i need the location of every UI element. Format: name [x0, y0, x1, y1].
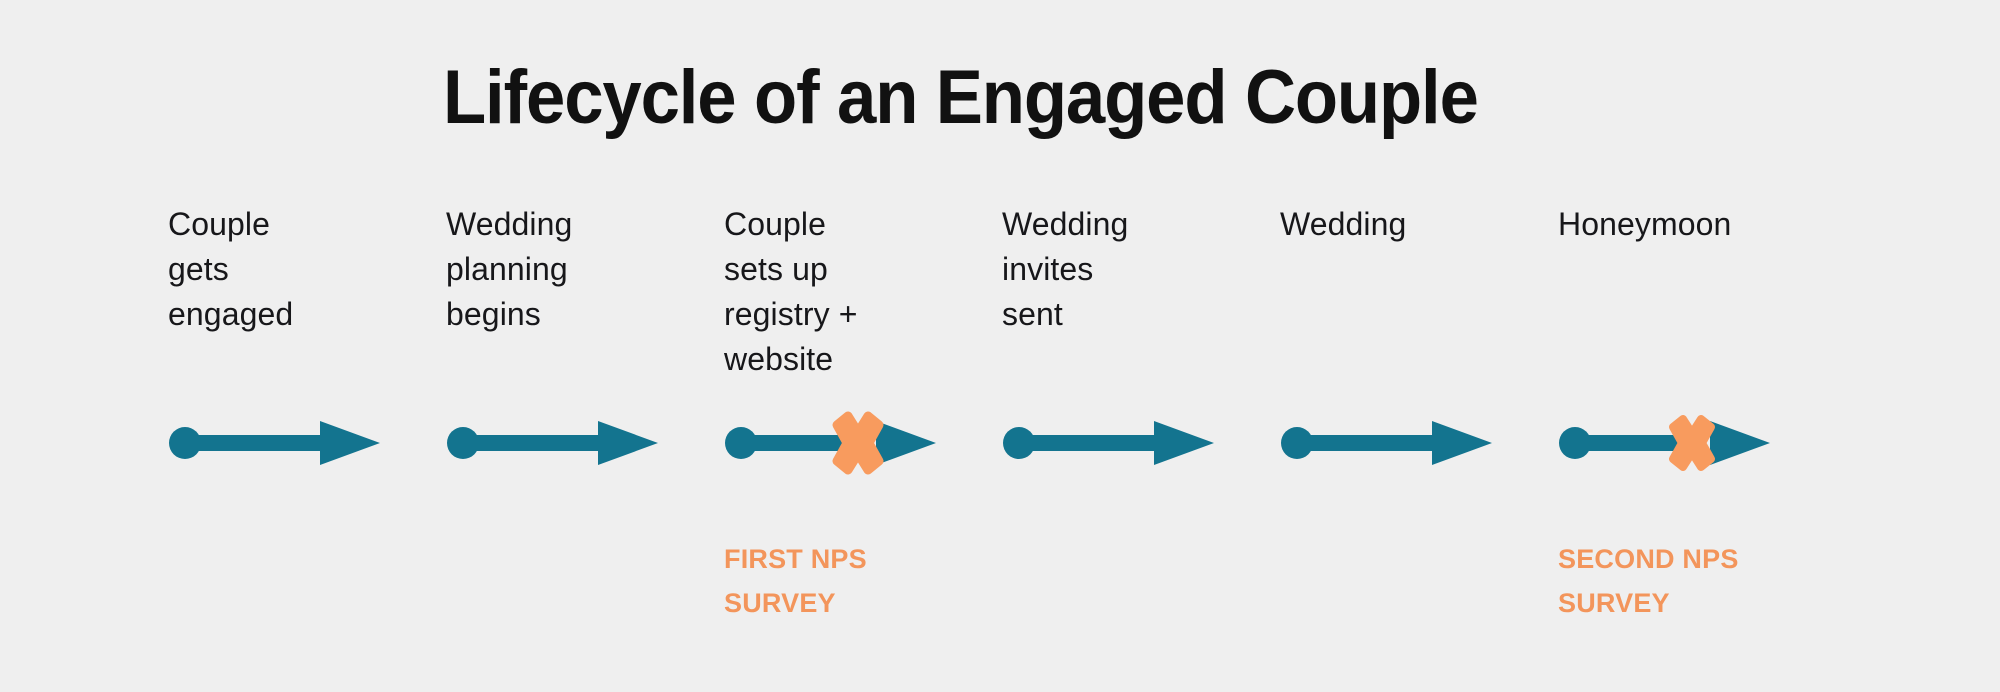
arrow-shaft-icon [461, 435, 603, 451]
stage-label-2: Wedding planning begins [446, 202, 696, 337]
nps-callout-6: SECOND NPS SURVEY [1558, 537, 1808, 625]
stage-column-5: Wedding [1280, 0, 1558, 692]
arrow-head-icon [1432, 421, 1492, 465]
arrow-shaft-icon [183, 435, 325, 451]
arrow-head-icon [1710, 421, 1770, 465]
stage-label-line: gets [168, 251, 229, 287]
stage-label-4: Wedding invites sent [1002, 202, 1252, 337]
stage-label-line: Honeymoon [1558, 206, 1731, 242]
stage-column-1: Couple gets engaged [168, 0, 446, 692]
stage-label-line: sent [1002, 296, 1063, 332]
arrow-head-icon [598, 421, 658, 465]
stage-arrow-3 [724, 412, 939, 474]
stage-column-4: Wedding invites sent [1002, 0, 1280, 692]
arrow-shaft-icon [1295, 435, 1437, 451]
stage-label-line: sets up [724, 251, 828, 287]
stage-label-line: engaged [168, 296, 293, 332]
nps-callout-line: SURVEY [1558, 588, 1670, 618]
stage-label-line: Wedding [1002, 206, 1128, 242]
nps-callout-3: FIRST NPS SURVEY [724, 537, 974, 625]
nps-callout-line: SURVEY [724, 588, 836, 618]
stage-column-6: Honeymoon SECOND NPS SURVEY [1558, 0, 1836, 692]
stage-label-3: Couple sets up registry + website [724, 202, 974, 382]
arrow-head-icon [1154, 421, 1214, 465]
arrow-shaft-icon [1017, 435, 1159, 451]
stage-arrow-5 [1280, 412, 1495, 474]
stage-label-line: invites [1002, 251, 1093, 287]
stage-label-line: Wedding [446, 206, 572, 242]
nps-x-marker-icon [837, 416, 879, 470]
nps-callout-line: SECOND NPS [1558, 544, 1739, 574]
arrow-head-icon [320, 421, 380, 465]
stage-arrow-1 [168, 412, 383, 474]
stage-column-3: Couple sets up registry + website FIRST … [724, 0, 1002, 692]
stage-label-line: Couple [724, 206, 826, 242]
nps-x-marker-icon [1673, 419, 1711, 467]
stage-arrow-6 [1558, 412, 1773, 474]
stage-label-line: registry + [724, 296, 857, 332]
nps-callout-line: FIRST NPS [724, 544, 867, 574]
stage-label-1: Couple gets engaged [168, 202, 418, 337]
diagram-canvas: Lifecycle of an Engaged Couple Couple ge… [0, 0, 2000, 692]
stage-arrow-4 [1002, 412, 1217, 474]
stage-label-5: Wedding [1280, 202, 1530, 247]
stage-label-line: Couple [168, 206, 270, 242]
arrow-head-icon [876, 421, 936, 465]
stage-label-line: begins [446, 296, 541, 332]
stage-column-2: Wedding planning begins [446, 0, 724, 692]
stage-label-line: planning [446, 251, 568, 287]
stage-arrow-2 [446, 412, 661, 474]
stage-label-6: Honeymoon [1558, 202, 1808, 247]
stage-label-line: Wedding [1280, 206, 1406, 242]
stage-label-line: website [724, 341, 833, 377]
